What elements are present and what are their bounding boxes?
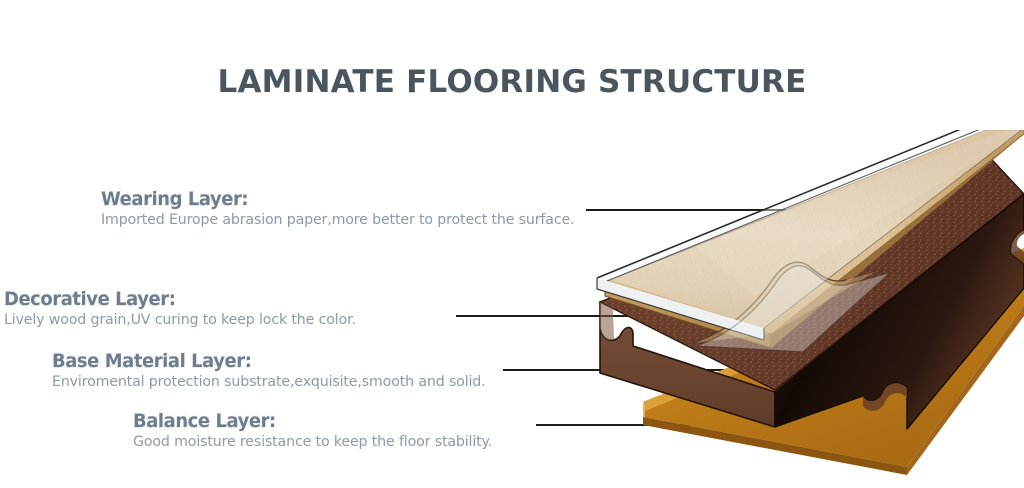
callout-description-decorative-layer: Lively wood grain,UV curing to keep lock… [4,310,356,330]
callout-description-base-material-layer: Enviromental protection substrate,exquis… [52,372,486,392]
callout-wearing-layer: Wearing Layer: Imported Europe abrasion … [101,188,574,230]
callout-base-material-layer: Base Material Layer: Enviromental protec… [52,350,486,392]
laminate-flooring-cutaway-illustration [575,130,1024,475]
callout-title-base-material-layer: Base Material Layer: [52,350,460,372]
callout-description-balance-layer: Good moisture resistance to keep the flo… [133,432,492,452]
callout-balance-layer: Balance Layer: Good moisture resistance … [133,410,492,452]
callout-description-wearing-layer: Imported Europe abrasion paper,more bett… [101,210,574,230]
callout-decorative-layer: Decorative Layer: Lively wood grain,UV c… [4,288,356,330]
callout-title-decorative-layer: Decorative Layer: [4,288,335,310]
callout-title-balance-layer: Balance Layer: [133,410,471,432]
page-title: LAMINATE FLOORING STRUCTURE [0,64,1024,100]
laminate-flooring-infographic: LAMINATE FLOORING STRUCTURE Wearing Laye… [0,0,1024,488]
callout-title-wearing-layer: Wearing Layer: [101,188,546,210]
